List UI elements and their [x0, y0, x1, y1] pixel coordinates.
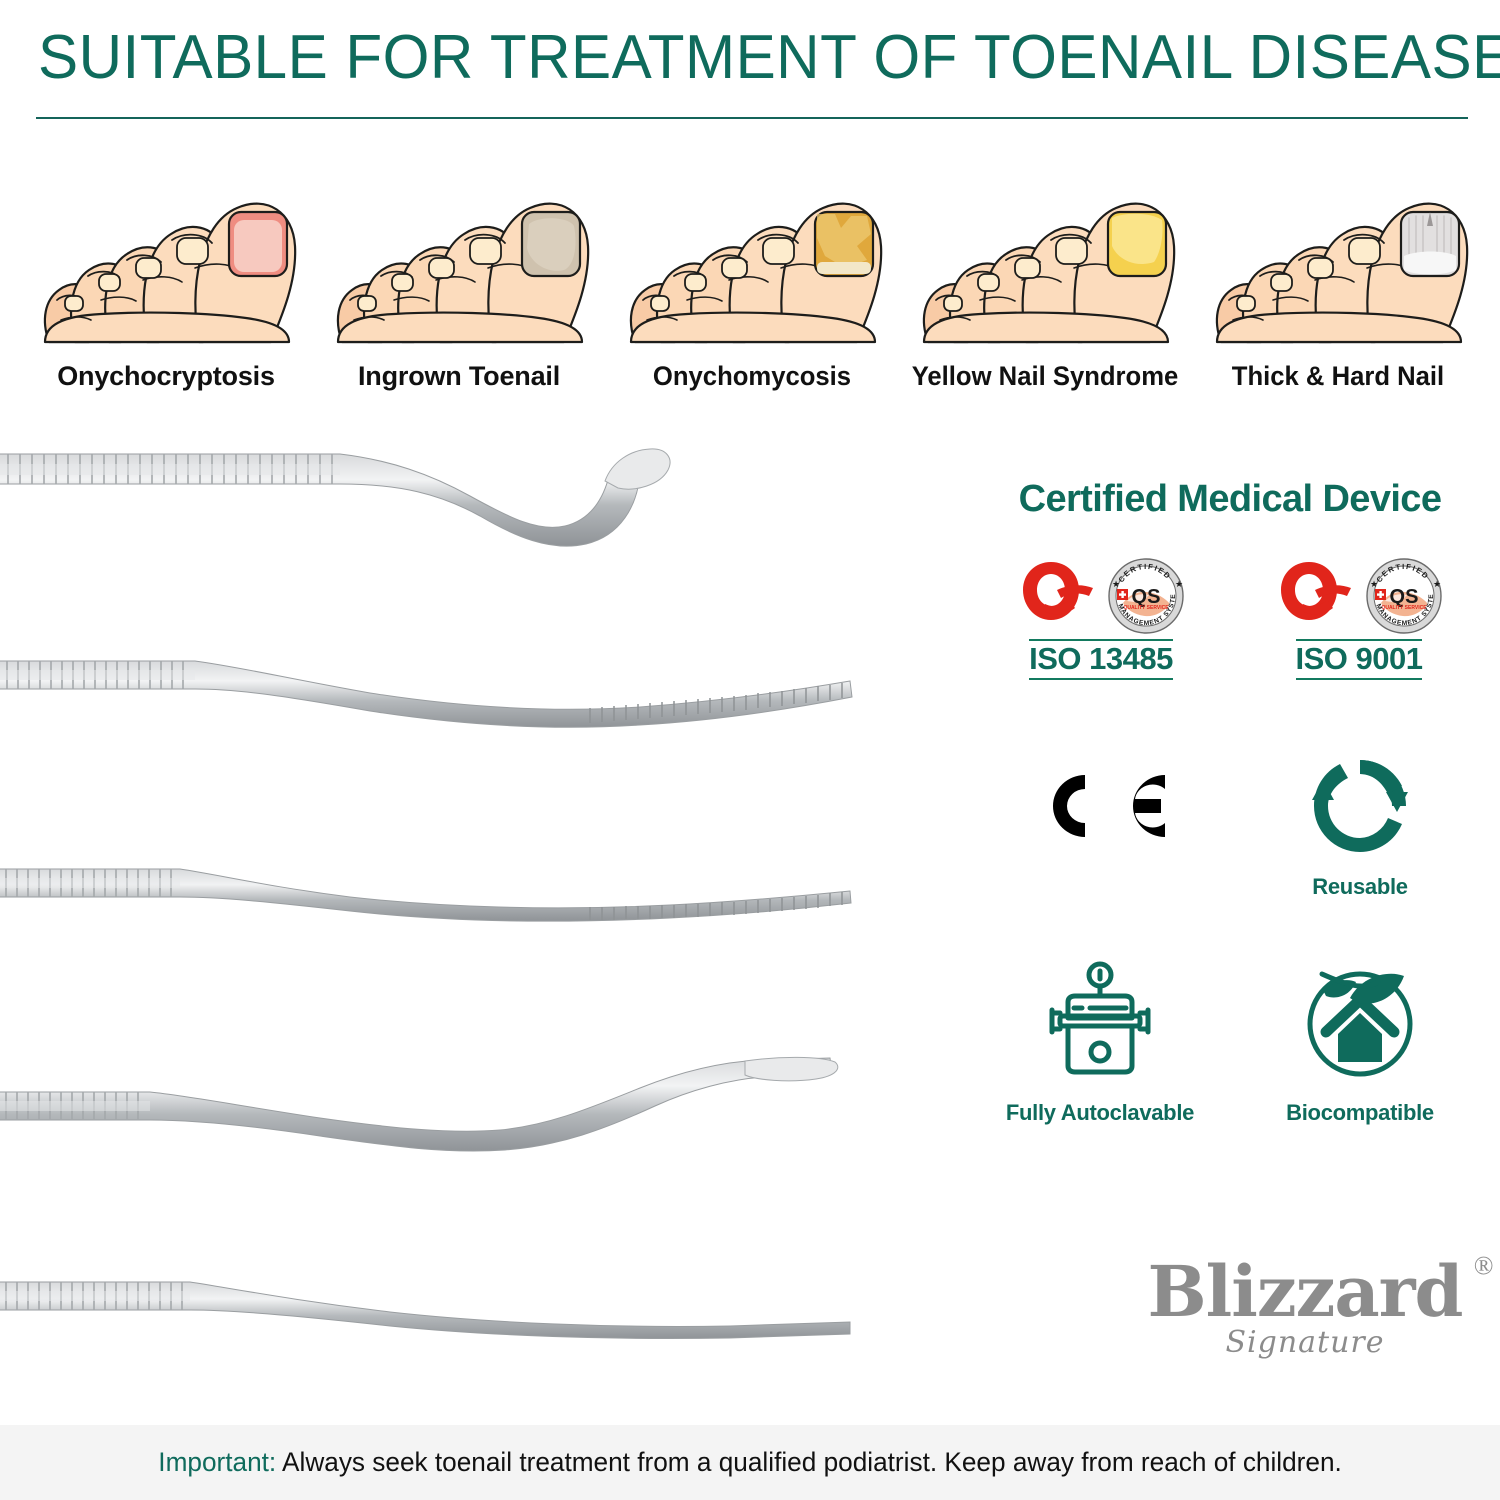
badge-row-lower: Fully Autoclavable Biocompatible — [960, 952, 1500, 1126]
iso-label: ISO 13485 — [1029, 639, 1173, 680]
iso-block: QS QUALITY SERVICE CERTIFIED MANAGEMENT … — [1264, 555, 1454, 680]
condition-item: Yellow Nail Syndrome — [901, 145, 1189, 392]
qs-seal-icon: QS QUALITY SERVICE CERTIFIED MANAGEMENT … — [1365, 557, 1443, 635]
foot-svg — [31, 150, 301, 345]
qs-red-logo-icon — [1017, 558, 1103, 634]
instrument-flat-nail-elevator — [0, 1050, 870, 1190]
conditions-strip: Onychocryptosis — [22, 132, 1482, 392]
badge-label: Fully Autoclavable — [1005, 1100, 1195, 1126]
footer-note: Important: Always seek toenail treatment… — [158, 1447, 1342, 1478]
foot-svg — [324, 150, 594, 345]
qs-red-logo-icon — [1275, 558, 1361, 634]
svg-text:★: ★ — [1433, 579, 1441, 589]
condition-label: Yellow Nail Syndrome — [908, 361, 1182, 392]
recycle-icon — [1265, 746, 1455, 866]
foot-svg — [1203, 150, 1473, 345]
svg-text:QUALITY SERVICE: QUALITY SERVICE — [1381, 605, 1427, 611]
iso-label: ISO 9001 — [1296, 639, 1423, 680]
registered-trademark-icon: ® — [1474, 1229, 1493, 1303]
condition-item: Thick & Hard Nail — [1194, 145, 1482, 392]
condition-label: Onychomycosis — [615, 361, 889, 392]
certified-heading: Certified Medical Device — [960, 478, 1500, 521]
foot-illustration — [608, 145, 896, 345]
page-title: SUITABLE FOR TREATMENT OF TOENAIL DISEAS… — [38, 24, 1425, 92]
svg-text:★: ★ — [1112, 579, 1120, 589]
foot-illustration — [22, 145, 310, 345]
foot-illustration — [315, 145, 603, 345]
badge-reusable: Reusable — [1265, 746, 1455, 900]
iso-row: QS QUALITY SERVICE CERTIFIED MANAGEMENT … — [960, 555, 1500, 680]
ce-mark-svg — [1025, 763, 1175, 849]
condition-label: Ingrown Toenail — [315, 361, 603, 392]
autoclave-svg — [1040, 960, 1160, 1084]
leaf-house-svg — [1300, 960, 1420, 1084]
qs-seal-icon: QS QUALITY SERVICE CERTIFIED MANAGEMENT … — [1107, 557, 1185, 635]
instrument-curved-nail-lifter — [0, 440, 870, 580]
condition-label: Onychocryptosis — [22, 361, 310, 392]
qs-certification-mark-icon: QS QUALITY SERVICE CERTIFIED MANAGEMENT … — [1006, 555, 1196, 637]
brand-name-text: Blizzard — [1147, 1250, 1462, 1333]
condition-item: Ingrown Toenail — [315, 145, 603, 392]
instrument-serrated-nail-rasp — [0, 855, 870, 985]
badge-ce — [1005, 746, 1195, 900]
footer-body-text: Always seek toenail treatment from a qua… — [276, 1447, 1342, 1477]
qs-certification-mark-icon: QS QUALITY SERVICE CERTIFIED MANAGEMENT … — [1264, 555, 1454, 637]
instrument-serrated-nail-file-curved — [0, 645, 870, 775]
ce-mark-icon — [1005, 746, 1195, 866]
instrument-tapered-nail-probe — [0, 1260, 870, 1390]
brand-logo: Blizzard ® Signature — [1120, 1255, 1490, 1360]
foot-illustration — [1194, 145, 1482, 345]
leaf-house-icon — [1265, 952, 1455, 1092]
instrument-gallery — [0, 430, 960, 1400]
svg-text:QUALITY SERVICE: QUALITY SERVICE — [1123, 605, 1169, 611]
foot-illustration — [901, 145, 1189, 345]
badge-biocompatible: Biocompatible — [1265, 952, 1455, 1126]
foot-svg — [617, 150, 887, 345]
foot-svg — [910, 150, 1180, 345]
footer-important-label: Important: — [158, 1447, 276, 1477]
badge-row-upper: Reusable — [960, 746, 1500, 900]
badge-label: Biocompatible — [1265, 1100, 1455, 1126]
brand-name: Blizzard ® — [1147, 1255, 1462, 1329]
title-divider — [36, 117, 1468, 119]
svg-text:★: ★ — [1370, 579, 1378, 589]
svg-text:★: ★ — [1175, 579, 1183, 589]
iso-block: QS QUALITY SERVICE CERTIFIED MANAGEMENT … — [1006, 555, 1196, 680]
footer-bar: Important: Always seek toenail treatment… — [0, 1425, 1500, 1500]
condition-item: Onychocryptosis — [22, 145, 310, 392]
autoclave-icon — [1005, 952, 1195, 1092]
product-infographic: SUITABLE FOR TREATMENT OF TOENAIL DISEAS… — [0, 0, 1500, 1500]
condition-label: Thick & Hard Nail — [1201, 361, 1475, 392]
badge-autoclavable: Fully Autoclavable — [1005, 952, 1195, 1126]
badge-label: Reusable — [1265, 874, 1455, 900]
condition-item: Onychomycosis — [608, 145, 896, 392]
certified-medical-device-panel: Certified Medical Device — [960, 478, 1500, 1126]
recycle-svg — [1308, 754, 1412, 858]
